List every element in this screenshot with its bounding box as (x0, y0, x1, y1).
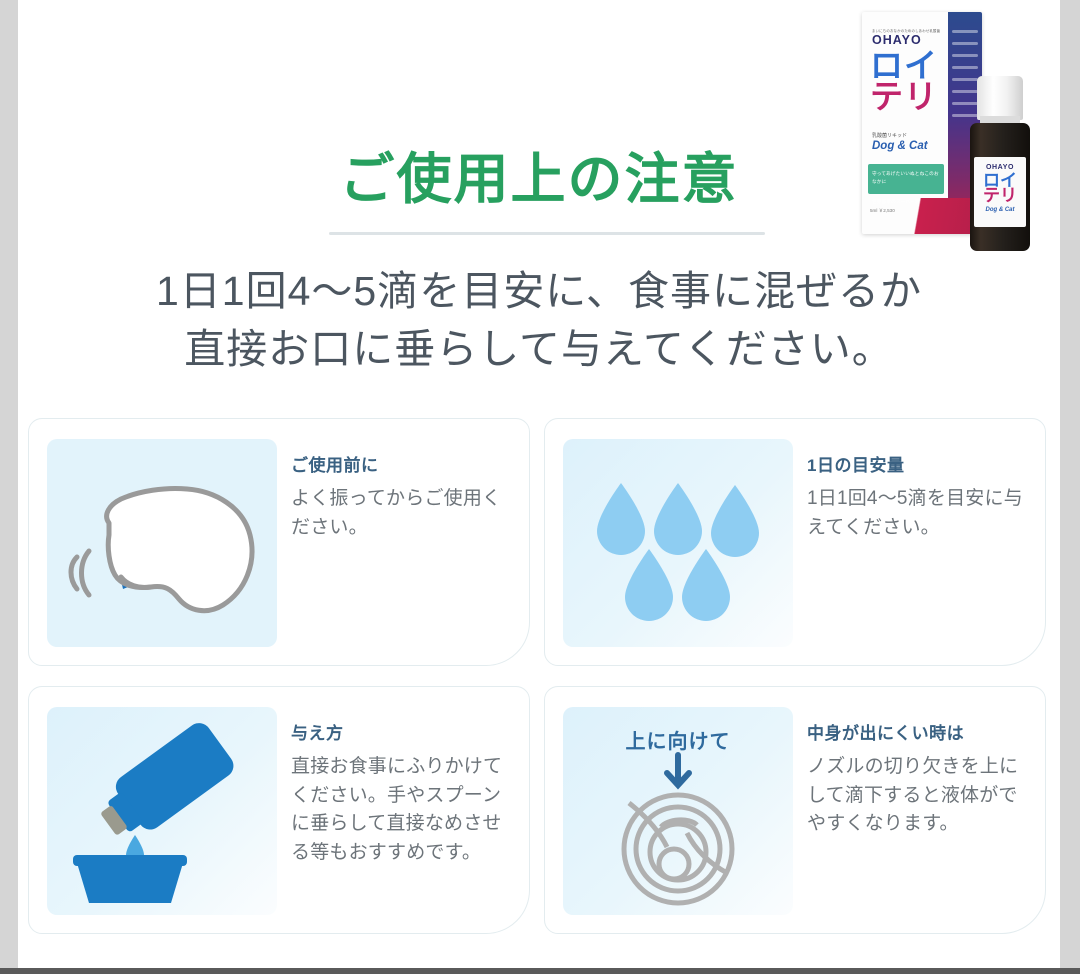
card-body: 1日1回4〜5滴を目安に与えてください。 (807, 485, 1029, 542)
card-body: ノズルの切り欠きを上にして滴下すると液体がでやすくなります。 (807, 753, 1029, 839)
instruction-card-before-use: ご使用前に よく振ってからご使用ください。 (28, 418, 530, 666)
box-brand: OHAYO (872, 33, 922, 47)
box-logo-line2: テリ (870, 81, 944, 112)
bottom-divider (0, 968, 1080, 974)
card-body: 直接お食事にふりかけてください。手やスプーンに垂らして直接なめさせる等もおすすめ… (291, 753, 513, 867)
page-subtitle-line2: 直接お口に垂らして与えてください。 (18, 320, 1060, 378)
instruction-card-grid: ご使用前に よく振ってからご使用ください。 1日の目安量 (28, 418, 1058, 934)
page-subtitle: 1日1回4〜5滴を目安に、食事に混ぜるか 直接お口に垂らして与えてください。 (18, 262, 1060, 378)
card-heading: 1日の目安量 (807, 451, 1029, 476)
bottle-target: Dog & Cat (974, 207, 1026, 213)
card-text-daily-dose: 1日の目安量 1日1回4〜5滴を目安に与えてください。 (793, 419, 1045, 542)
nozzle-notch-up-icon: 上に向けて (563, 707, 793, 915)
title-underline (329, 232, 765, 235)
page-subtitle-line1: 1日1回4〜5滴を目安に、食事に混ぜるか (18, 262, 1060, 320)
instruction-card-how-to-give: 与え方 直接お食事にふりかけてください。手やスプーンに垂らして直接なめさせる等も… (28, 686, 530, 934)
card-heading: 中身が出にくい時は (807, 719, 1029, 744)
box-logo-line1: ロイ (870, 50, 944, 81)
instruction-card-hard-to-dispense: 上に向けて (544, 686, 1046, 934)
card-heading: 与え方 (291, 719, 513, 744)
hand-shaking-bottle-icon (47, 439, 277, 647)
product-image: まいにちのおなかのためのしあわせ乳酸菌 OHAYO ロイ テリ 乳酸菌リキッド … (840, 2, 1055, 272)
card-body: よく振ってからご使用ください。 (291, 485, 513, 542)
card-heading: ご使用前に (291, 451, 513, 476)
five-water-drops-icon (563, 439, 793, 647)
bottle-dripping-into-bowl-icon (47, 707, 277, 915)
box-product-kind: 乳酸菌リキッド (872, 132, 907, 139)
page-canvas: まいにちのおなかのためのしあわせ乳酸菌 OHAYO ロイ テリ 乳酸菌リキッド … (18, 0, 1060, 968)
box-logo: ロイ テリ (870, 50, 944, 113)
card-text-before-use: ご使用前に よく振ってからご使用ください。 (277, 419, 529, 542)
bottle-cap (977, 76, 1023, 120)
page-title: ご使用上の注意 (18, 152, 1060, 207)
box-target: Dog & Cat (872, 140, 928, 152)
card-text-hard-to-dispense: 中身が出にくい時は ノズルの切り欠きを上にして滴下すると液体がでやすくなります。 (793, 687, 1045, 839)
instruction-card-daily-dose: 1日の目安量 1日1回4〜5滴を目安に与えてください。 (544, 418, 1046, 666)
card-text-how-to-give: 与え方 直接お食事にふりかけてください。手やスプーンに垂らして直接なめさせる等も… (277, 687, 529, 867)
